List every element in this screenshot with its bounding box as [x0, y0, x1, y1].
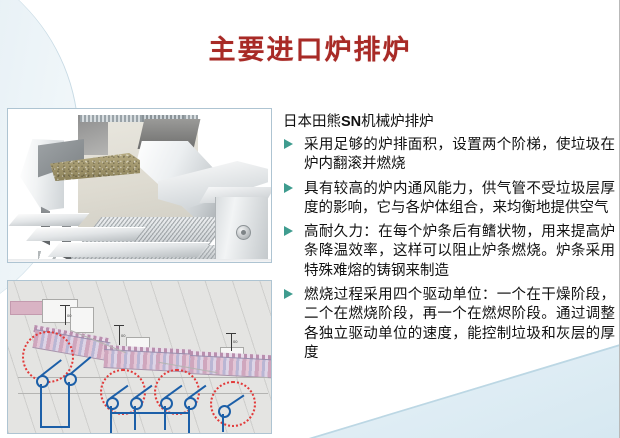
grate-drive-unit-schematic: 00 00 00 — [7, 280, 272, 434]
dimension-line — [65, 305, 66, 325]
lead-heading: 日本田熊SN机械炉排炉 — [283, 112, 615, 133]
lead-prefix: 日本田熊 — [283, 114, 341, 130]
page-title: 主要进口炉排炉 — [0, 28, 620, 67]
hydraulic-joint — [130, 397, 143, 410]
arrow-bullet-icon — [284, 183, 293, 193]
grate-step — [9, 213, 90, 226]
list-item: 采用足够的炉排面积，设置两个阶梯，使垃圾在炉内翻滚并燃烧 — [283, 136, 615, 175]
lead-model-code: SN — [341, 114, 361, 130]
dimension-label: 00 — [121, 333, 125, 338]
hydraulic-pipe — [134, 406, 136, 430]
hydraulic-manifold — [110, 412, 190, 414]
hydraulic-pipe — [40, 384, 42, 428]
hydraulic-joint — [184, 397, 197, 410]
dimension-line — [231, 333, 232, 351]
grate-step — [26, 227, 146, 241]
body-text-column: 日本田熊SN机械炉排炉 采用足够的炉排面积，设置两个阶梯，使垃圾在炉内翻滚并燃烧… — [283, 112, 615, 368]
hydraulic-pipe — [68, 382, 70, 428]
list-item-text: 采用足够的炉排面积，设置两个阶梯，使垃圾在炉内翻滚并燃烧 — [304, 137, 615, 172]
list-item: 燃烧过程采用四个驱动单位：一个在干燥阶段，二个在燃烧阶段，再一个在燃烬阶段。通过… — [283, 286, 615, 363]
hydraulic-pipe — [164, 406, 166, 430]
arrow-bullet-icon — [284, 139, 293, 149]
list-item-text: 具有较高的炉内通风能力，供气管不受垃圾层厚度的影响，它与各炉体组合，来均衡地提供… — [304, 181, 615, 216]
list-item: 高耐久力：在每个炉条后有鳍状物，用来提高炉条降温效率，这样可以阻止炉条燃烧。炉条… — [283, 223, 615, 281]
feature-bullet-list: 采用足够的炉排面积，设置两个阶梯，使垃圾在炉内翻滚并燃烧 具有较高的炉内通风能力… — [283, 136, 615, 363]
hydraulic-riser — [188, 412, 190, 434]
drive-shaft-knob — [236, 225, 251, 240]
list-item-text: 高耐久力：在每个炉条后有鳍状物，用来提高炉条降温效率，这样可以阻止炉条燃烧。炉条… — [304, 224, 615, 279]
hydraulic-joint — [64, 373, 77, 386]
hydraulic-riser — [110, 412, 112, 434]
drive-unit-highlight — [210, 381, 256, 427]
grate-furnace-3d-render — [7, 108, 272, 263]
schematic-stage: 00 00 00 — [8, 281, 271, 433]
hydraulic-joint — [218, 405, 231, 418]
hydraulic-joint — [160, 397, 173, 410]
hydraulic-joint — [106, 397, 119, 410]
list-item-text: 燃烧过程采用四个驱动单位：一个在干燥阶段，二个在燃烧阶段，再一个在燃烬阶段。通过… — [304, 287, 615, 361]
lead-suffix: 机械炉排炉 — [361, 114, 434, 130]
arrow-bullet-icon — [284, 289, 293, 299]
slide-canvas: 主要进口炉排炉 — [0, 0, 620, 438]
list-item: 具有较高的炉内通风能力，供气管不受垃圾层厚度的影响，它与各炉体组合，来均衡地提供… — [283, 180, 615, 219]
chute-frame — [70, 307, 94, 333]
grate-step — [48, 242, 211, 257]
hydraulic-joint — [36, 375, 49, 388]
dimension-line — [119, 325, 120, 345]
render-base-fade — [8, 259, 272, 263]
render-stage — [8, 109, 271, 262]
arrow-bullet-icon — [284, 226, 293, 236]
dimension-label: 00 — [233, 339, 237, 344]
hydraulic-pipe — [222, 414, 224, 432]
hydraulic-manifold — [40, 426, 70, 428]
dimension-label: 00 — [67, 313, 71, 318]
